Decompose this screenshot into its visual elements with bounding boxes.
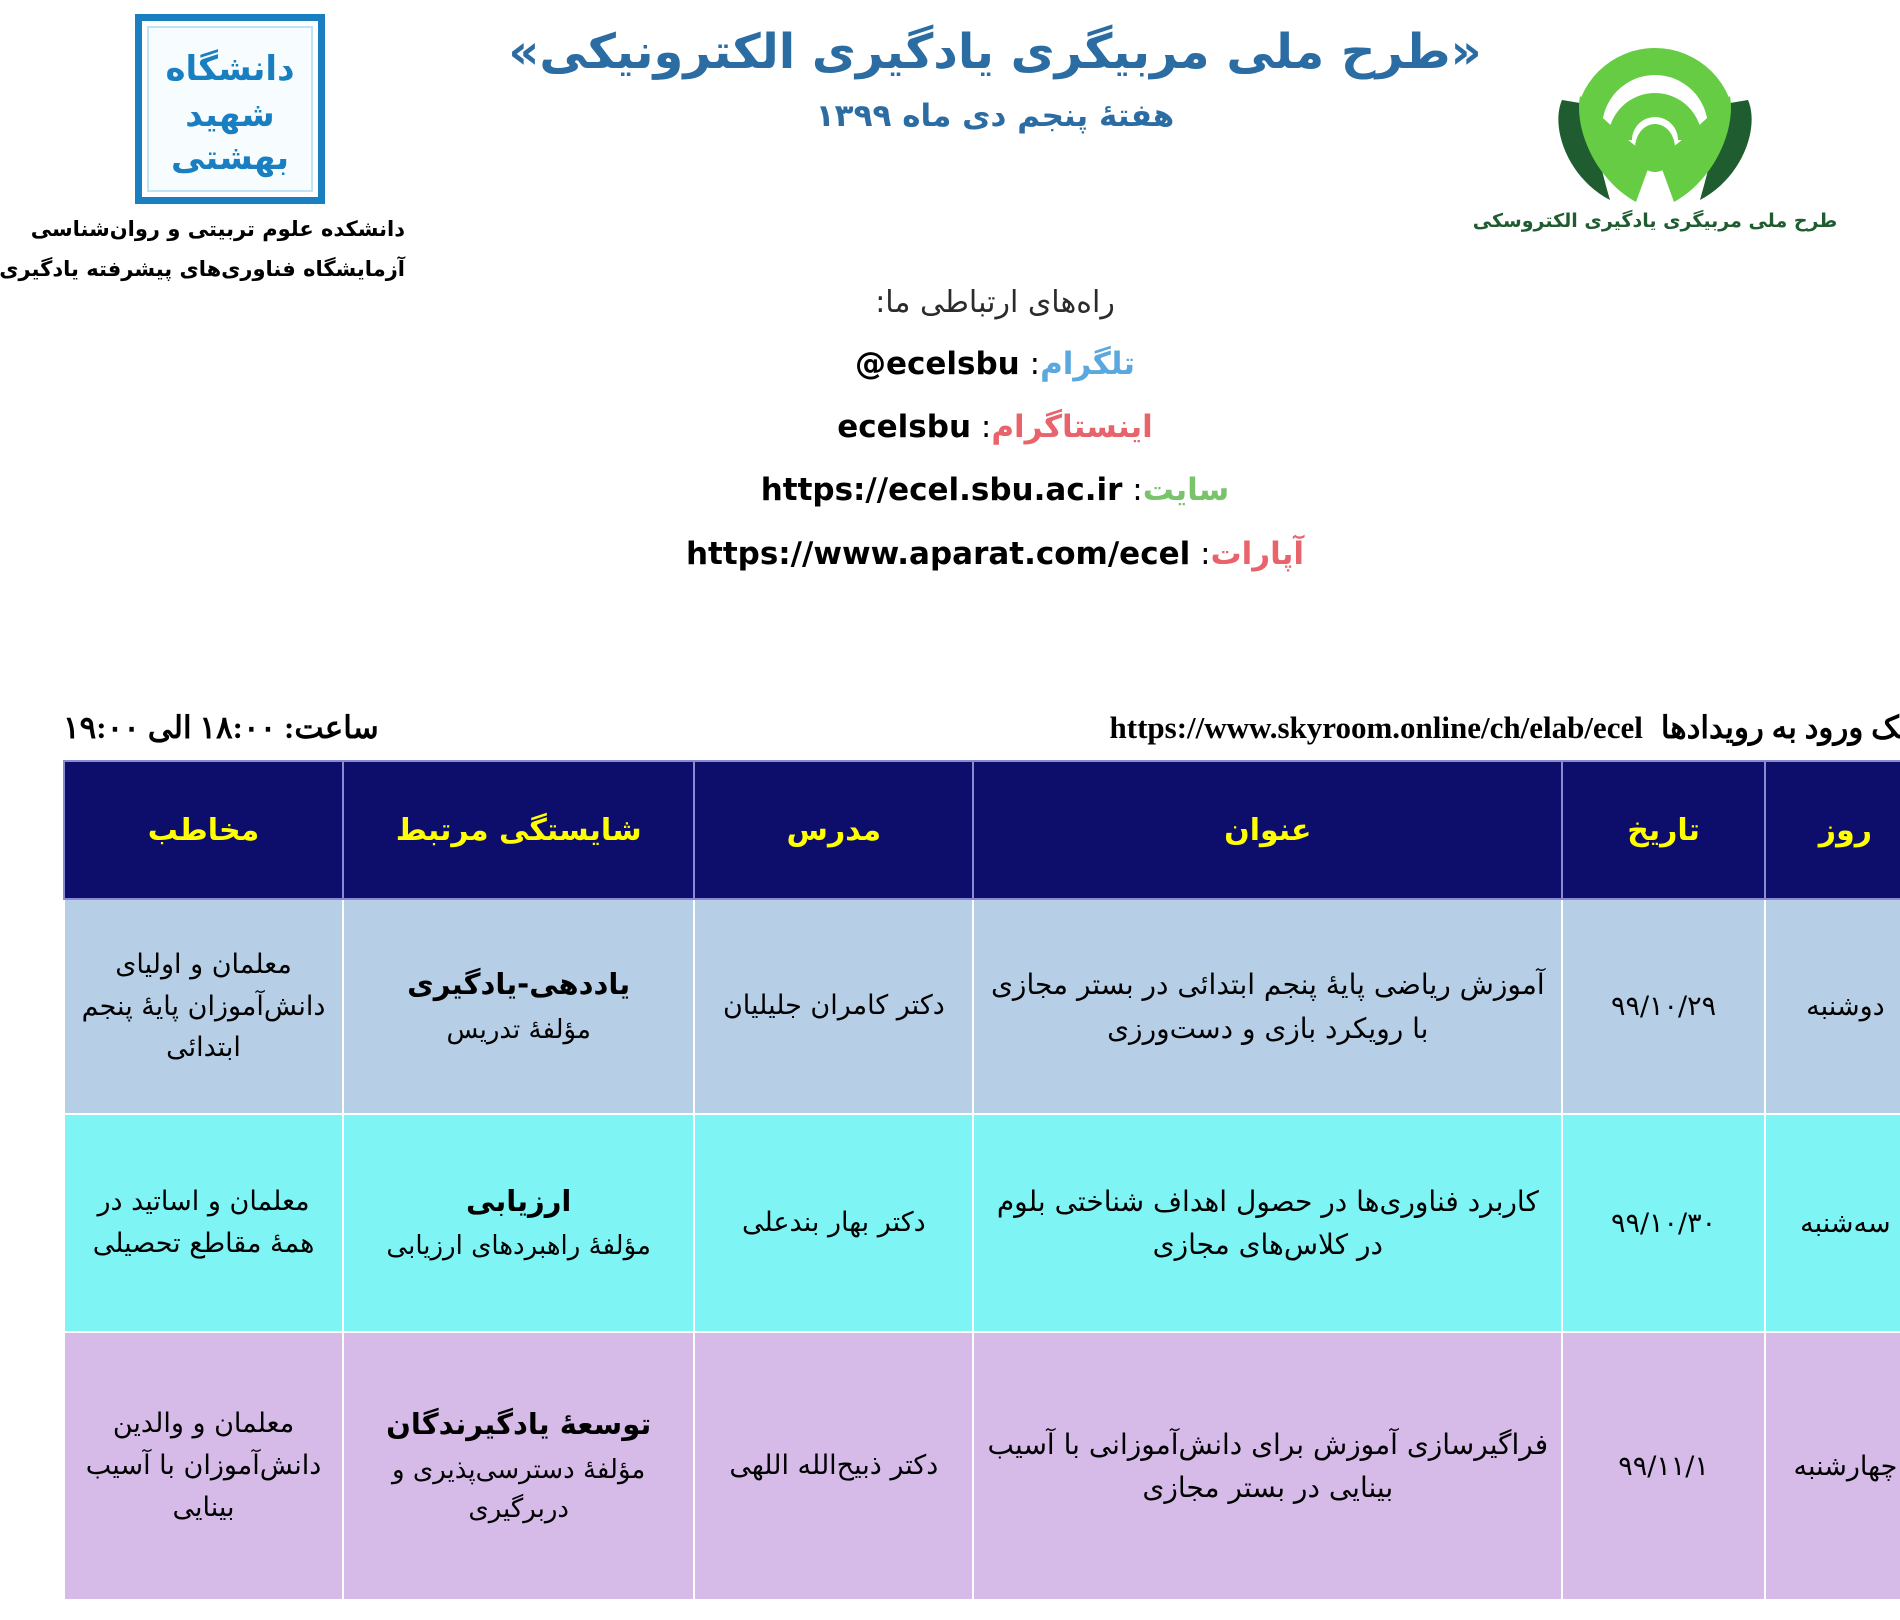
col-header-audience: مخاطب [19,761,298,899]
sbu-logo-icon: دانشگاه شهید بهشتی [102,26,268,192]
contact-label-site: سایت [1098,472,1185,508]
schedule-table-body: دوشنبه ۹۹/۱۰/۲۹ آموزش ریاضی پایهٔ پنجم ا… [19,899,1881,1600]
table-row: سه‌شنبه ۹۹/۱۰/۳۰ کاربرد فناوری‌ها در حصو… [19,1114,1881,1332]
ecel-wifi-hands-icon [1495,8,1725,208]
table-row: دوشنبه ۹۹/۱۰/۲۹ آموزش ریاضی پایهٔ پنجم ا… [19,899,1881,1114]
contact-item-telegram: تلگرام: @ecelsbu [0,346,1900,383]
schedule-table-head: روز تاریخ عنوان مدرس شایستگی مرتبط مخاطب [19,761,1881,899]
col-header-competency: شایستگی مرتبط [298,761,649,899]
contact-item-instagram: اینستاگرام: ecelsbu [0,409,1900,446]
contact-value-site[interactable]: https://ecel.sbu.ac.ir [716,472,1078,509]
event-link-label: لینک ورود به رویدادها [1616,710,1882,746]
cell-date: ۹۹/۱۰/۲۹ [1517,899,1720,1114]
cell-audience: معلمان و اساتید در همهٔ مقاطع تحصیلی [19,1114,298,1332]
contact-value-telegram[interactable]: @ecelsbu [810,346,975,383]
cell-title: فراگیرسازی آموزش برای دانش‌آموزانی با آس… [928,1332,1517,1600]
university-faculty-line: دانشکده علوم تربیتی و روان‌شناسی [10,214,360,244]
competency-main: ارزیابی [309,1180,638,1224]
page-header: دانشگاه شهید بهشتی دانشکده علوم تربیتی و… [0,0,1900,300]
contact-colon: : [1077,472,1097,508]
university-lab-line: آزمایشگاه فناوری‌های پیشرفته یادگیری [10,254,360,284]
table-header-row: روز تاریخ عنوان مدرس شایستگی مرتبط مخاطب [19,761,1881,899]
cell-title: آموزش ریاضی پایهٔ پنجم ابتدائی در بستر م… [928,899,1517,1114]
contact-value-aparat[interactable]: https://www.aparat.com/ecel [641,536,1145,573]
cell-date: ۹۹/۱۰/۳۰ [1517,1114,1720,1332]
contact-item-site: سایت: https://ecel.sbu.ac.ir [0,472,1900,509]
cell-competency: یاددهی-یادگیری مؤلفهٔ تدریس [298,899,649,1114]
cell-competency: ارزیابی مؤلفهٔ راهبردهای ارزیابی [298,1114,649,1332]
competency-sub: مؤلفهٔ راهبردهای ارزیابی [309,1227,638,1266]
competency-main: یاددهی-یادگیری [309,963,638,1007]
university-logo-block: دانشگاه شهید بهشتی دانشکده علوم تربیتی و… [10,14,360,285]
cell-audience: معلمان و والدین دانش‌آموزان با آسیب بینا… [19,1332,298,1600]
svg-text:شهید: شهید [140,95,229,135]
contact-colon: : [1145,536,1165,572]
cell-day: سه‌شنبه [1720,1114,1881,1332]
project-logo-block: طرح ملی مربیگری یادگیری الکتروسکی [1400,8,1820,232]
contact-colon: : [975,346,995,382]
cell-instructor: دکتر ذبیح‌الله اللهی [649,1332,928,1600]
contact-heading: راه‌های ارتباطی ما: [0,285,1900,320]
event-link-url[interactable]: https://www.skyroom.online/ch/elab/ecel [1065,710,1598,746]
schedule-table-wrap: روز تاریخ عنوان مدرس شایستگی مرتبط مخاطب… [18,760,1882,1601]
col-header-instructor: مدرس [649,761,928,899]
contact-label-telegram: تلگرام [995,346,1090,382]
event-link-row: لینک ورود به رویدادها https://www.skyroo… [0,700,1900,756]
cell-instructor: دکتر کامران جلیلیان [649,899,928,1114]
contact-colon: : [926,409,946,445]
cell-title: کاربرد فناوری‌ها در حصول اهداف شناختی بل… [928,1114,1517,1332]
svg-text:بهشتی: بهشتی [126,138,244,178]
contact-item-aparat: آپارات: https://www.aparat.com/ecel [0,536,1900,573]
svg-text:دانشگاه: دانشگاه [120,49,249,89]
event-time-label: ساعت: ۱۸:۰۰ الی ۱۹:۰۰ [18,710,334,746]
col-header-title: عنوان [928,761,1517,899]
event-link-group: لینک ورود به رویدادها https://www.skyroo… [1065,710,1883,746]
cell-day: دوشنبه [1720,899,1881,1114]
cell-date: ۹۹/۱۱/۱ [1517,1332,1720,1600]
col-header-date: تاریخ [1517,761,1720,899]
project-logo-caption: طرح ملی مربیگری یادگیری الکتروسکی [1400,210,1820,232]
competency-sub: مؤلفهٔ دسترسی‌پذیری و دربرگیری [309,1451,638,1529]
schedule-table: روز تاریخ عنوان مدرس شایستگی مرتبط مخاطب… [18,760,1882,1601]
competency-main: توسعهٔ یادگیرندگان [309,1403,638,1447]
sbu-logo-frame: دانشگاه شهید بهشتی [90,14,280,204]
cell-competency: توسعهٔ یادگیرندگان مؤلفهٔ دسترسی‌پذیری و… [298,1332,649,1600]
contact-block: راه‌های ارتباطی ما: تلگرام: @ecelsbu این… [0,285,1900,599]
table-row: چهارشنبه ۹۹/۱۱/۱ فراگیرسازی آموزش برای د… [19,1332,1881,1600]
cell-day: چهارشنبه [1720,1332,1881,1600]
contact-value-instagram[interactable]: ecelsbu [792,409,926,446]
cell-audience: معلمان و اولیای دانش‌آموزان پایهٔ پنجم ا… [19,899,298,1114]
contact-label-instagram: اینستاگرام [946,409,1107,445]
col-header-day: روز [1720,761,1881,899]
contact-label-aparat: آپارات [1166,536,1260,572]
competency-sub: مؤلفهٔ تدریس [309,1011,638,1050]
cell-instructor: دکتر بهار بندعلی [649,1114,928,1332]
